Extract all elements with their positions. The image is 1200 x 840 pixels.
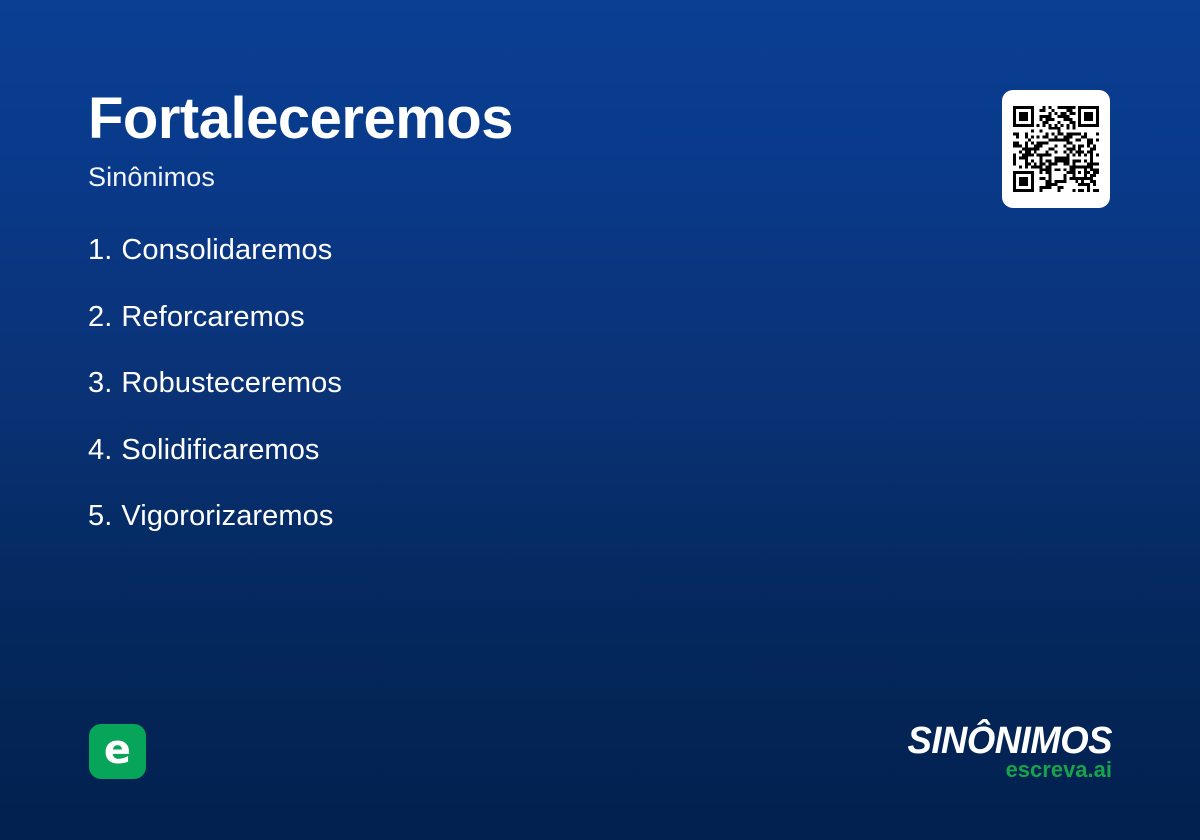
qr-code-card[interactable] [1002, 90, 1110, 208]
list-item: 1. Consolidaremos [88, 236, 948, 303]
page-title: Fortaleceremos [88, 88, 948, 151]
synonym-card: Fortaleceremos Sinônimos 1. Consolidarem… [0, 0, 1200, 840]
synonym-list: 1. Consolidaremos 2. Reforcaremos 3. Rob… [88, 236, 948, 569]
wordmark-title: SINÔNIMOS [908, 722, 1112, 760]
list-item: 4. Solidificaremos [88, 436, 948, 503]
list-item-index: 1. [88, 236, 112, 265]
brand-badge-escreva[interactable]: e [89, 724, 146, 779]
qr-code-icon [1013, 106, 1099, 192]
list-item-index: 4. [88, 436, 112, 465]
list-item-index: 2. [88, 303, 112, 332]
headline-block: Fortaleceremos Sinônimos [88, 88, 948, 192]
brand-badge-letter: e [104, 730, 131, 770]
list-item: 5. Vigororizaremos [88, 502, 948, 569]
list-item-label: Vigororizaremos [121, 502, 333, 531]
list-item: 2. Reforcaremos [88, 303, 948, 370]
brand-wordmark: SINÔNIMOS escreva.ai [899, 722, 1112, 782]
list-item-label: Reforcaremos [121, 303, 304, 332]
list-item-index: 3. [88, 369, 112, 398]
list-item-label: Solidificaremos [121, 436, 319, 465]
list-item: 3. Robusteceremos [88, 369, 948, 436]
list-item-label: Consolidaremos [121, 236, 332, 265]
list-item-index: 5. [88, 502, 112, 531]
page-subtitle: Sinônimos [88, 163, 948, 193]
list-item-label: Robusteceremos [121, 369, 342, 398]
